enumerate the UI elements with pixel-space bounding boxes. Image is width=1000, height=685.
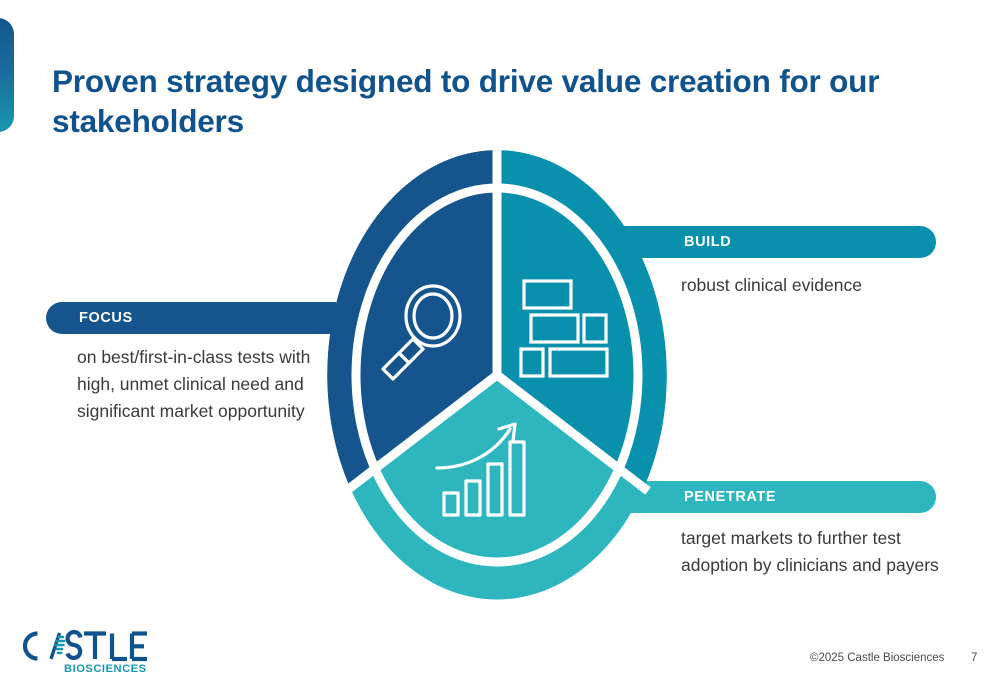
footer-copyright: ©2025 Castle Biosciences [810,652,944,664]
segment-body-penetrate: target markets to further test adoption … [681,525,971,579]
strategy-pie-diagram [327,150,667,602]
page-title: Proven strategy designed to drive value … [52,61,882,142]
logo-letter-t [84,634,106,660]
segment-label-build-text: BUILD [684,234,731,250]
logo-letter-s [68,632,81,658]
segment-body-focus: on best/first-in-class tests with high, … [77,344,312,425]
logo-subtitle: BIOSCIENCES [64,663,147,675]
segment-body-build: robust clinical evidence [681,272,961,299]
logo-dna-helix-icon [51,633,64,659]
left-accent-bar [0,18,14,132]
segment-label-focus[interactable]: FOCUS [46,302,336,334]
footer-page-number: 7 [971,652,977,664]
castle-biosciences-logo: BIOSCIENCES [18,628,150,676]
logo-letter-c [25,634,38,659]
segment-label-penetrate-text: PENETRATE [684,489,776,505]
slide-canvas: Proven strategy designed to drive value … [0,0,1000,685]
segment-label-focus-text: FOCUS [79,310,133,326]
logo-letter-e [132,634,147,660]
logo-letter-l [112,634,127,660]
